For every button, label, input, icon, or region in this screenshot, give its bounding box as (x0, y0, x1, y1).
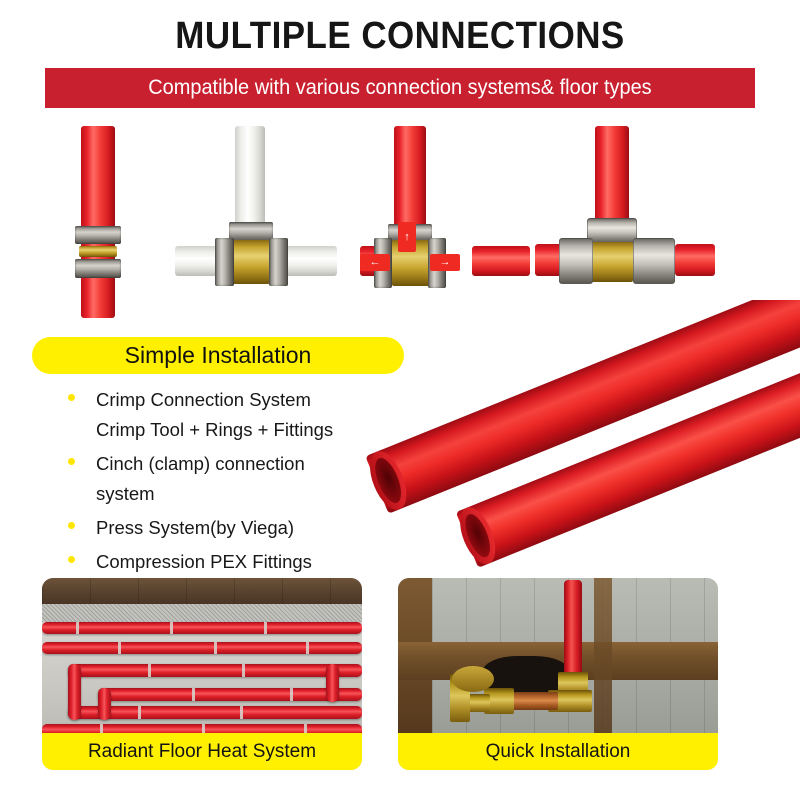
list-item-line: Press System(by Viega) (96, 513, 388, 543)
product-photo-red-pex-tubing-pair (355, 300, 800, 575)
list-item-line: Cinch (clamp) connection (96, 449, 388, 479)
fitting-photo-strip: ↑ ← → (0, 118, 800, 318)
subtitle-banner-text: Compatible with various connection syste… (148, 76, 651, 100)
quick-installation-panel: Quick Installation (398, 578, 718, 770)
radiant-floor-photo (42, 578, 362, 733)
radiant-floor-heat-panel: Radiant Floor Heat System (42, 578, 362, 770)
wall-stud (594, 578, 612, 733)
quick-installation-photo (398, 578, 718, 733)
list-item-line: Compression PEX Fittings (96, 547, 388, 577)
list-item: Cinch (clamp) connection system (58, 449, 388, 509)
fitting-image-red-pex-press-tee-fitting (535, 118, 715, 318)
list-item-line: system (96, 479, 388, 509)
flow-arrow-right-icon: → (430, 254, 460, 271)
panel-caption-text: Quick Installation (486, 741, 631, 763)
panel-caption-text: Radiant Floor Heat System (88, 741, 316, 763)
page-title: MULTIPLE CONNECTIONS (32, 16, 768, 56)
bullet-dot-icon (68, 458, 75, 465)
flow-arrow-up-icon: ↑ (398, 222, 416, 252)
product-feature-page: MULTIPLE CONNECTIONS Compatible with var… (0, 0, 800, 800)
simple-installation-badge: Simple Installation (32, 337, 404, 374)
panel-caption: Quick Installation (398, 733, 718, 770)
simple-installation-label: Simple Installation (125, 342, 312, 369)
list-item: Compression PEX Fittings (58, 547, 388, 577)
red-pex-pipe (564, 580, 582, 684)
gravel-layer (42, 604, 362, 622)
fitting-image-red-pex-tee-with-flow-arrows: ↑ ← → (360, 118, 530, 318)
list-item: Press System(by Viega) (58, 513, 388, 543)
subtitle-banner: Compatible with various connection syste… (45, 68, 755, 108)
wood-floor-layer (42, 578, 362, 604)
flow-arrow-left-icon: ← (360, 254, 390, 271)
bullet-dot-icon (68, 394, 75, 401)
fitting-image-crimp-connection-pipe (55, 118, 190, 318)
bullet-dot-icon (68, 522, 75, 529)
list-item-line: Crimp Connection System (96, 385, 388, 415)
brass-cap-fitting (452, 666, 494, 692)
list-item-line: Crimp Tool + Rings + Fittings (96, 415, 388, 445)
panel-caption: Radiant Floor Heat System (42, 733, 362, 770)
feature-list: Crimp Connection System Crimp Tool + Rin… (58, 385, 388, 581)
list-item: Crimp Connection System Crimp Tool + Rin… (58, 385, 388, 445)
bullet-dot-icon (68, 556, 75, 563)
fitting-image-white-pipe-tee-fitting (175, 118, 340, 318)
